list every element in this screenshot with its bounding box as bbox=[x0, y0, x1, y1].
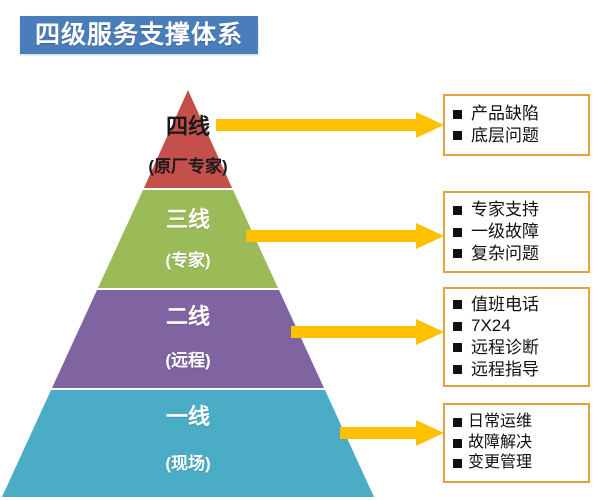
square-bullet-icon bbox=[453, 249, 462, 258]
list-item-label: 专家支持 bbox=[471, 199, 539, 221]
square-bullet-icon bbox=[453, 365, 462, 374]
list-item: 产品缺陷 bbox=[453, 103, 582, 125]
square-bullet-icon bbox=[453, 228, 462, 237]
arrow-tier-1 bbox=[340, 420, 444, 446]
pyramid-tier-1-shape bbox=[2, 390, 374, 497]
list-item: 远程指导 bbox=[453, 359, 582, 381]
list-item: 专家支持 bbox=[453, 199, 582, 221]
list-item: 复杂问题 bbox=[453, 243, 582, 265]
list-item-label: 故障解决 bbox=[468, 433, 532, 453]
square-bullet-icon bbox=[453, 343, 462, 352]
callout-tier-3[interactable]: 专家支持 一级故障 复杂问题 bbox=[443, 191, 590, 273]
arrow-tier-2 bbox=[291, 319, 444, 345]
list-item-label: 值班电话 bbox=[471, 294, 539, 316]
square-bullet-icon bbox=[453, 131, 462, 140]
list-item: 底层问题 bbox=[453, 125, 582, 147]
slide-canvas: 四级服务支撑体系 四线 (原厂专家) 三线 (专家) 二线 (远程) 一线 (现… bbox=[0, 0, 612, 500]
pyramid-tier-4-shape bbox=[144, 90, 232, 188]
list-item: 远程诊断 bbox=[453, 337, 582, 359]
square-bullet-icon bbox=[453, 206, 462, 215]
square-bullet-icon bbox=[453, 322, 462, 331]
arrow-tier-4 bbox=[216, 112, 444, 138]
list-item-label: 一级故障 bbox=[471, 221, 539, 243]
list-item-label: 变更管理 bbox=[468, 453, 532, 473]
callout-tier-4[interactable]: 产品缺陷 底层问题 bbox=[443, 94, 590, 156]
square-bullet-icon bbox=[453, 459, 462, 468]
list-item-label: 日常运维 bbox=[468, 412, 532, 432]
square-bullet-icon bbox=[453, 418, 462, 427]
pyramid-tier-2-shape bbox=[52, 290, 324, 388]
callout-tier-2[interactable]: 值班电话 7X24 远程诊断 远程指导 bbox=[443, 287, 590, 387]
list-item: 值班电话 bbox=[453, 294, 582, 316]
callout-tier-1[interactable]: 日常运维 故障解决 变更管理 bbox=[443, 403, 590, 483]
list-item: 变更管理 bbox=[453, 453, 582, 473]
list-item: 日常运维 bbox=[453, 412, 582, 432]
list-item-label: 复杂问题 bbox=[471, 243, 539, 265]
list-item-label: 产品缺陷 bbox=[471, 103, 539, 125]
list-item-label: 底层问题 bbox=[471, 125, 539, 147]
square-bullet-icon bbox=[453, 110, 462, 119]
square-bullet-icon bbox=[453, 439, 462, 448]
square-bullet-icon bbox=[453, 300, 462, 309]
list-item-label: 7X24 bbox=[471, 315, 511, 337]
list-item: 7X24 bbox=[453, 315, 582, 337]
list-item: 故障解决 bbox=[453, 433, 582, 453]
list-item-label: 远程诊断 bbox=[471, 337, 539, 359]
list-item-label: 远程指导 bbox=[471, 359, 539, 381]
arrow-tier-3 bbox=[246, 223, 444, 249]
list-item: 一级故障 bbox=[453, 221, 582, 243]
